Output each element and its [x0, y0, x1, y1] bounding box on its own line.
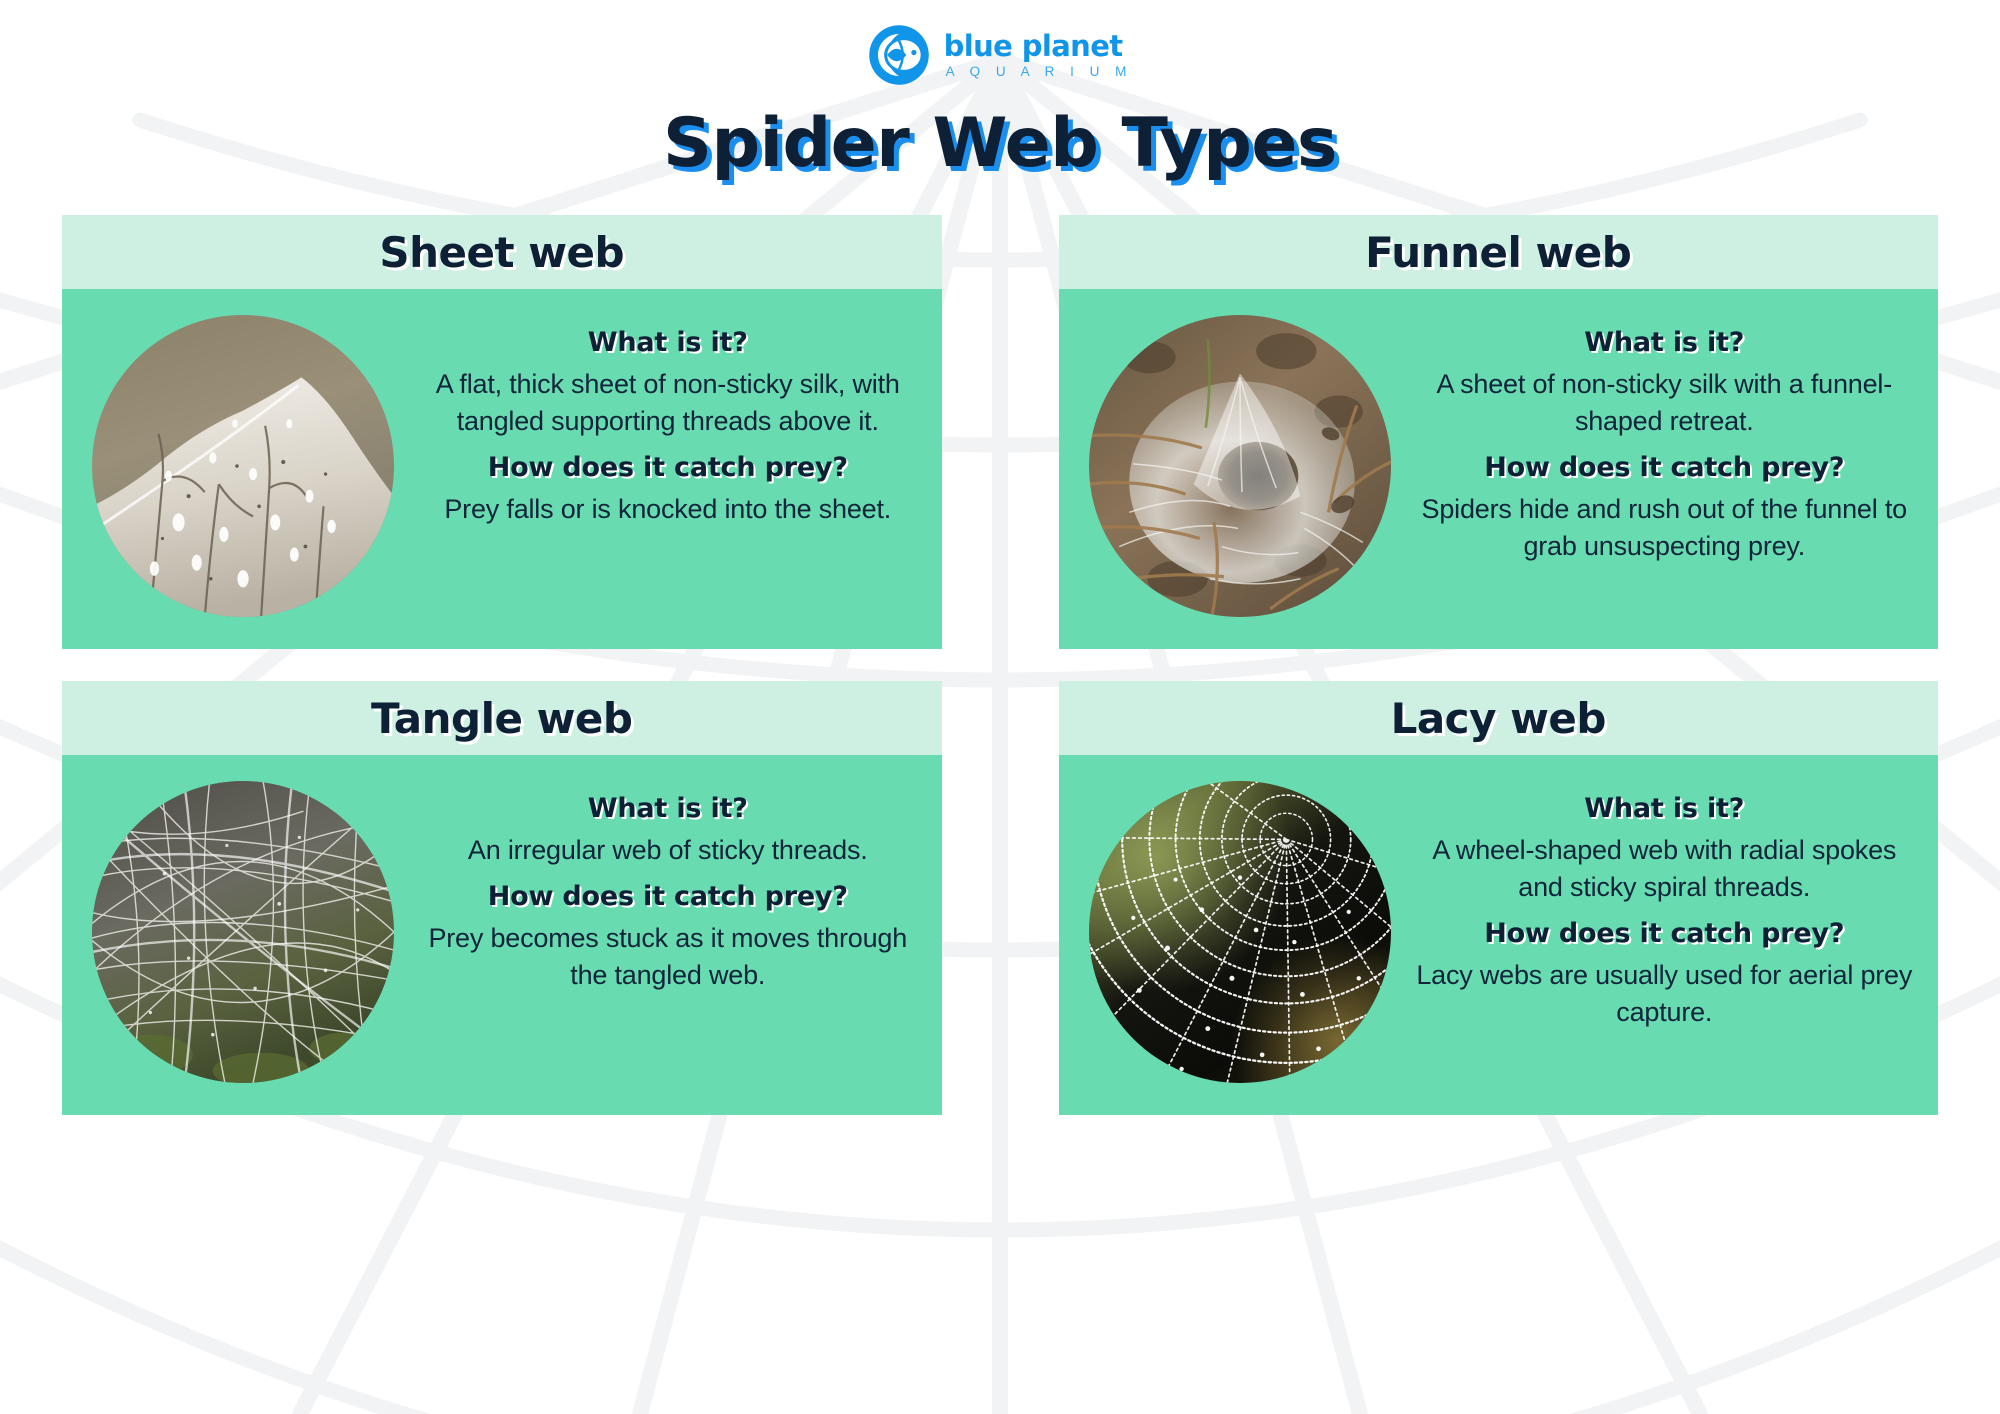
photo-column	[84, 315, 402, 617]
text-column: What is it? A sheet of non-sticky silk w…	[1409, 315, 1921, 564]
how-catch-prey-answer: Prey falls or is knocked into the sheet.	[418, 491, 918, 528]
what-is-it-answer: A wheel-shaped web with radial spokes an…	[1415, 832, 1915, 905]
how-catch-prey-label: How does it catch prey?	[418, 881, 918, 912]
how-catch-prey-answer: Prey becomes stuck as it moves through t…	[418, 920, 918, 993]
brand-subtitle: A Q U A R I U M	[946, 65, 1133, 79]
blue-planet-fish-circle-logo-icon	[868, 24, 930, 86]
photo-column	[1081, 781, 1399, 1083]
what-is-it-label: What is it?	[418, 793, 918, 824]
how-catch-prey-label: How does it catch prey?	[418, 452, 918, 483]
poster-root: blue planet A Q U A R I U M Spider Web T…	[0, 0, 2000, 1414]
what-is-it-answer: A flat, thick sheet of non-sticky silk, …	[418, 366, 918, 439]
brand-logo: blue planet A Q U A R I U M	[868, 22, 1133, 88]
card-title: Sheet web	[379, 228, 624, 277]
how-catch-prey-label: How does it catch prey?	[1415, 452, 1915, 483]
what-is-it-label: What is it?	[1415, 327, 1915, 358]
card-body-tangle-web: What is it? An irregular web of sticky t…	[62, 755, 942, 1115]
card-header-sheet-web: Sheet web	[62, 215, 942, 289]
funnel-web-photo	[1089, 315, 1391, 617]
photo-column	[84, 781, 402, 1083]
sheet-web-photo	[92, 315, 394, 617]
text-column: What is it? A flat, thick sheet of non-s…	[412, 315, 924, 527]
card-body-sheet-web: What is it? A flat, thick sheet of non-s…	[62, 289, 942, 649]
photo-column	[1081, 315, 1399, 617]
brand-name: blue planet	[944, 32, 1133, 61]
poster-header: blue planet A Q U A R I U M Spider Web T…	[0, 0, 2000, 179]
lacy-web-photo	[1089, 781, 1391, 1083]
card-body-lacy-web: What is it? A wheel-shaped web with radi…	[1059, 755, 1939, 1115]
what-is-it-answer: An irregular web of sticky threads.	[418, 832, 918, 869]
card-body-funnel-web: What is it? A sheet of non-sticky silk w…	[1059, 289, 1939, 649]
how-catch-prey-label: How does it catch prey?	[1415, 918, 1915, 949]
card-title: Lacy web	[1391, 694, 1606, 743]
card-sheet-web: Sheet web	[62, 215, 942, 649]
text-column: What is it? An irregular web of sticky t…	[412, 781, 924, 993]
card-funnel-web: Funnel web	[1059, 215, 1939, 649]
how-catch-prey-answer: Lacy webs are usually used for aerial pr…	[1415, 957, 1915, 1030]
web-types-grid: Sheet web	[0, 215, 2000, 1115]
what-is-it-answer: A sheet of non-sticky silk with a funnel…	[1415, 366, 1915, 439]
how-catch-prey-answer: Spiders hide and rush out of the funnel …	[1415, 491, 1915, 564]
what-is-it-label: What is it?	[418, 327, 918, 358]
card-title: Tangle web	[371, 694, 632, 743]
card-header-tangle-web: Tangle web	[62, 681, 942, 755]
card-lacy-web: Lacy web	[1059, 681, 1939, 1115]
card-tangle-web: Tangle web	[62, 681, 942, 1115]
card-header-lacy-web: Lacy web	[1059, 681, 1939, 755]
card-header-funnel-web: Funnel web	[1059, 215, 1939, 289]
tangle-web-photo	[92, 781, 394, 1083]
card-title: Funnel web	[1365, 228, 1631, 277]
page-title: Spider Web Types	[663, 108, 1337, 179]
text-column: What is it? A wheel-shaped web with radi…	[1409, 781, 1921, 1030]
what-is-it-label: What is it?	[1415, 793, 1915, 824]
